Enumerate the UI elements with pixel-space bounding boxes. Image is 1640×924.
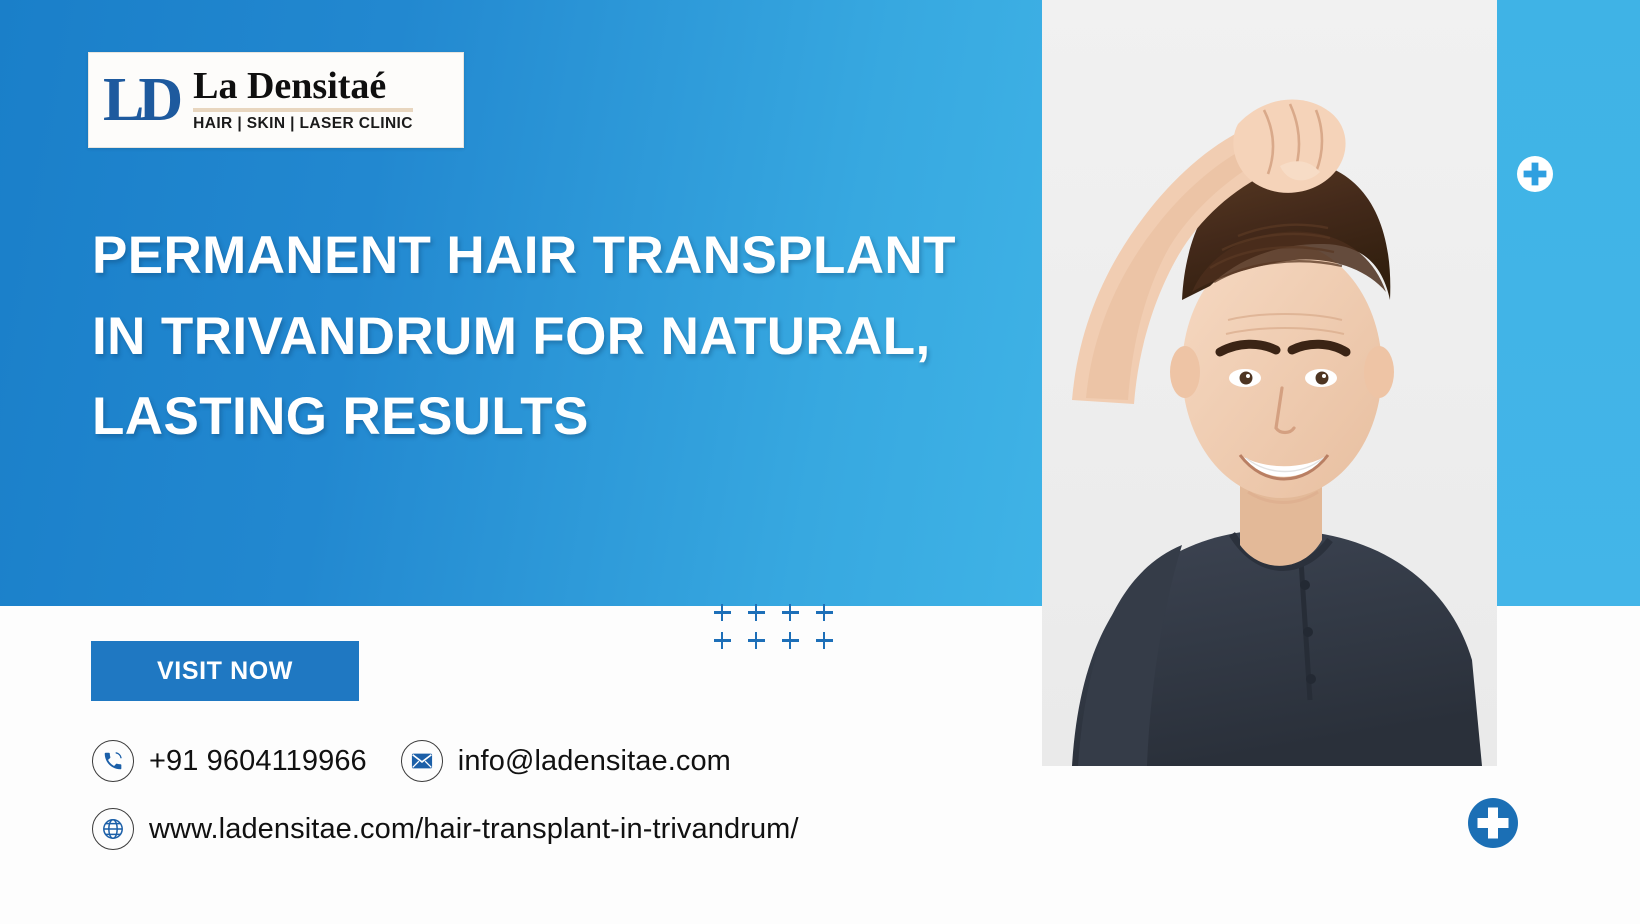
phone-number: +91 9604119966 [149, 745, 367, 778]
plus-icon [740, 626, 774, 654]
logo-divider-rule [193, 108, 413, 112]
plus-icon [740, 598, 774, 626]
brand-logo[interactable]: LD La Densitaé HAIR | SKIN | LASER CLINI… [88, 52, 464, 148]
contact-website[interactable]: www.ladensitae.com/hair-transplant-in-tr… [92, 808, 799, 850]
envelope-icon [401, 740, 443, 782]
plus-pattern-decoration [706, 598, 842, 654]
plus-icon [706, 598, 740, 626]
brand-tagline: HAIR | SKIN | LASER CLINIC [193, 115, 413, 133]
brand-name: La Densitaé [193, 67, 413, 106]
hero-photo [1042, 0, 1497, 766]
medical-cross-icon-bottom [1467, 797, 1519, 849]
contact-phone[interactable]: +91 9604119966 [92, 740, 367, 782]
photo-illustration [1042, 0, 1497, 766]
plus-icon [808, 598, 842, 626]
contact-row-primary: +91 9604119966 info@ladensitae.com [92, 740, 731, 782]
plus-icon [706, 626, 740, 654]
medical-cross-icon-top [1516, 155, 1554, 193]
contact-email[interactable]: info@ladensitae.com [401, 740, 731, 782]
globe-icon [92, 808, 134, 850]
logo-text-block: La Densitaé HAIR | SKIN | LASER CLINIC [193, 67, 413, 133]
website-url: www.ladensitae.com/hair-transplant-in-tr… [149, 813, 799, 846]
logo-monogram: LD [97, 69, 177, 131]
promotional-banner: LD La Densitaé HAIR | SKIN | LASER CLINI… [0, 0, 1640, 924]
plus-icon [774, 598, 808, 626]
contact-row-secondary: www.ladensitae.com/hair-transplant-in-tr… [92, 808, 799, 850]
visit-now-button[interactable]: VISIT NOW [91, 641, 359, 701]
plus-icon [808, 626, 842, 654]
plus-icon [774, 626, 808, 654]
phone-icon [92, 740, 134, 782]
right-accent-strip [1497, 0, 1640, 606]
email-address: info@ladensitae.com [458, 745, 731, 778]
page-title: PERMANENT HAIR TRANSPLANT IN TRIVANDRUM … [92, 216, 1022, 458]
